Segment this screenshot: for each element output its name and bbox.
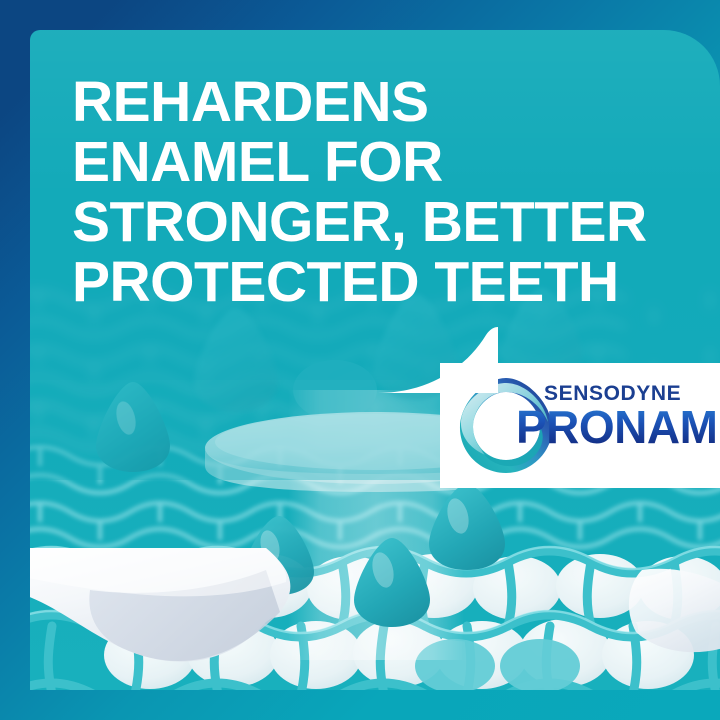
ad-inner-panel: REHARDENS ENAMEL FOR STRONGER, BETTER PR… bbox=[30, 30, 720, 690]
brand-logo-panel[interactable]: SENSODYNE PRONAMEL bbox=[440, 363, 720, 488]
page-title: REHARDENS ENAMEL FOR STRONGER, BETTER PR… bbox=[72, 72, 672, 312]
headline-line-4: PROTECTED TEETH bbox=[72, 252, 672, 312]
headline-line-2: ENAMEL FOR bbox=[72, 132, 672, 192]
pronamel-wordmark: PRONAMEL bbox=[516, 403, 716, 451]
logo-wordmarks: SENSODYNE PRONAMEL bbox=[516, 383, 716, 451]
headline-line-3: STRONGER, BETTER bbox=[72, 192, 672, 252]
ad-canvas: REHARDENS ENAMEL FOR STRONGER, BETTER PR… bbox=[0, 0, 720, 720]
headline-line-1: REHARDENS bbox=[72, 72, 672, 132]
